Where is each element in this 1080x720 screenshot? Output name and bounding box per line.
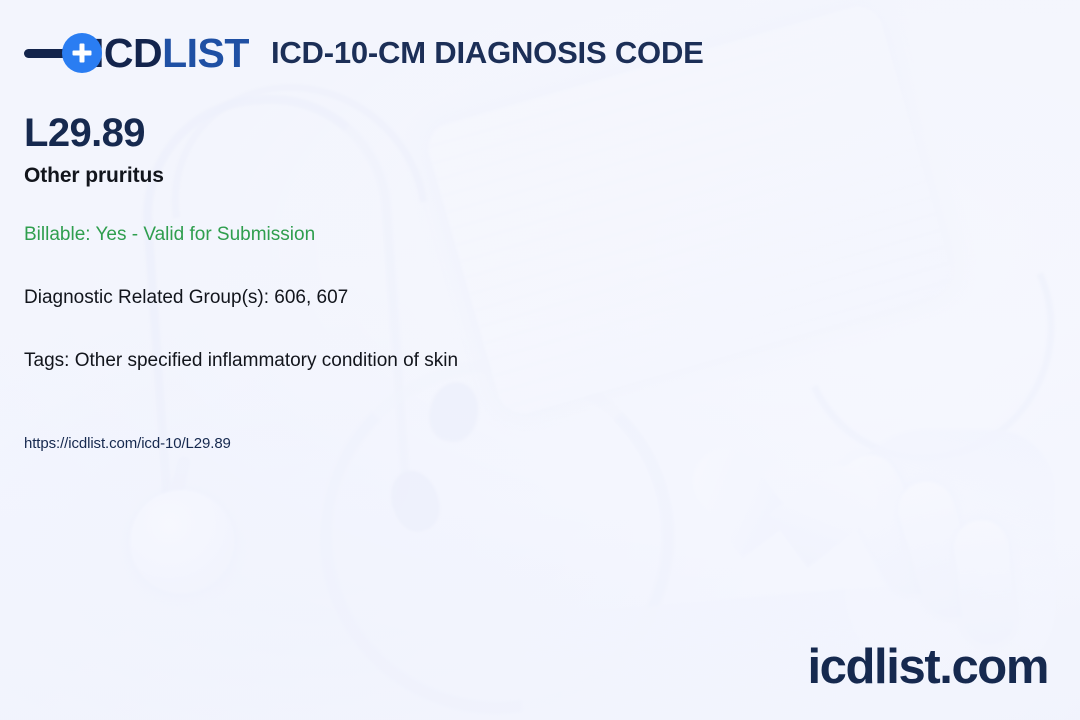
finger-shape [830, 445, 952, 605]
stethoscope-eartip-a [384, 464, 447, 537]
billable-status: Billable: Yes - Valid for Submission [24, 224, 724, 246]
logo-wordmark-icd: ICD [93, 30, 162, 76]
page-title: ICD-10-CM DIAGNOSIS CODE [271, 37, 704, 70]
footer-brand: icdlist.com [807, 643, 1048, 692]
logo-wordmark: ICDLIST [93, 33, 249, 74]
code-details: L29.89 Other pruritus Billable: Yes - Va… [24, 112, 724, 452]
stethoscope-bell [130, 490, 234, 594]
tags-line: Tags: Other specified inflammatory condi… [24, 350, 724, 372]
icdlist-logo[interactable]: ICDLIST [24, 29, 249, 77]
logo-wordmark-list: LIST [162, 30, 249, 76]
mask-ear-loop-right [763, 163, 1080, 498]
diagnosis-code: L29.89 [24, 112, 724, 154]
plus-icon [62, 33, 102, 73]
diagnosis-description: Other pruritus [24, 164, 724, 188]
finger-shape [952, 518, 1019, 648]
page-header: ICDLIST ICD-10-CM DIAGNOSIS CODE [24, 27, 1056, 79]
icd-code-card: ICDLIST ICD-10-CM DIAGNOSIS CODE L29.89 … [0, 0, 1080, 720]
stethoscope-stem [162, 454, 193, 525]
paper-heart-icon [678, 447, 823, 592]
finger-shape [892, 475, 984, 625]
source-url[interactable]: https://icdlist.com/icd-10/L29.89 [24, 435, 724, 452]
diagnostic-related-groups: Diagnostic Related Group(s): 606, 607 [24, 287, 724, 309]
